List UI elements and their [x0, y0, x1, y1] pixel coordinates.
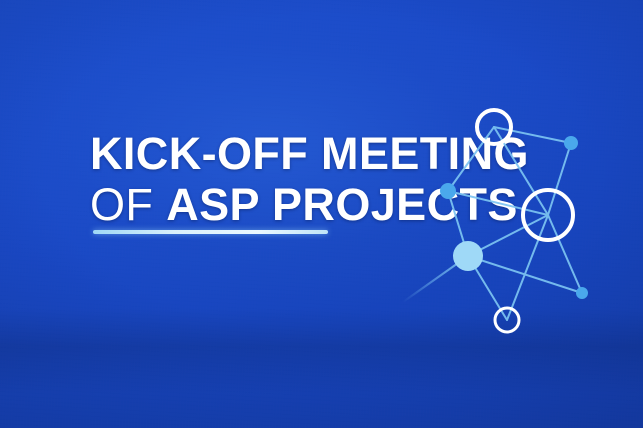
edge-n2-n4	[548, 143, 571, 215]
edge-n5-n6	[468, 256, 582, 293]
title-underline-rule	[93, 230, 328, 234]
slide-canvas: KICK-OFF MEETING OF ASP PROJECTS	[0, 0, 643, 428]
network-edges	[448, 127, 582, 320]
network-diagram	[380, 90, 610, 350]
node-left-large-dot	[453, 241, 483, 271]
edge-n4-n6	[548, 215, 582, 293]
network-nodes	[440, 110, 588, 332]
node-top-right-dot	[564, 136, 578, 150]
node-right-small-dot	[576, 287, 588, 299]
node-left-medium-dot	[440, 183, 456, 199]
edge-n1-n3	[448, 127, 494, 191]
title-line-2-light-part: OF	[90, 179, 166, 230]
